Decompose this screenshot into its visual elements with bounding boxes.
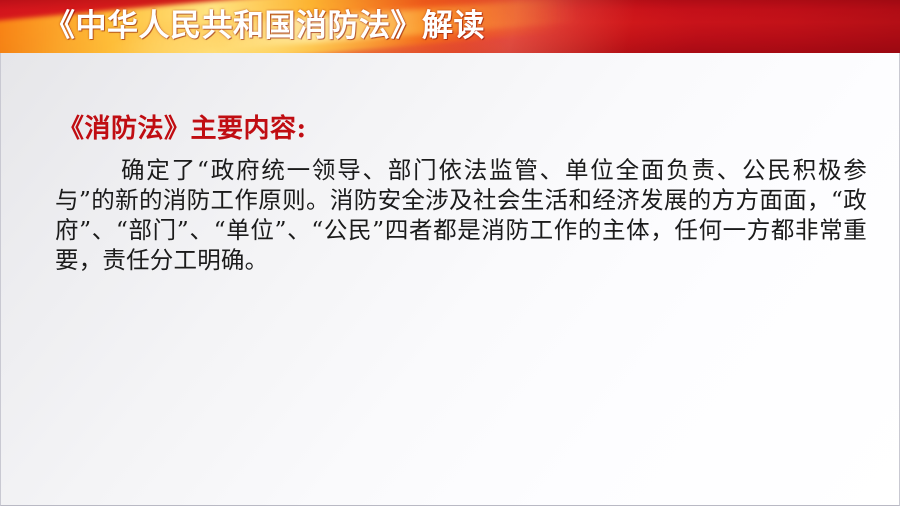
body-paragraph: 确定了“政府统一领导、部门依法监管、单位全面负责、公民积极参与”的新的消防工作原… [55, 155, 867, 275]
slide-header-banner: 《中华人民共和国消防法》解读 [0, 0, 900, 53]
slide-canvas: 《中华人民共和国消防法》解读 《消防法》主要内容: 确定了“政府统一领导、部门依… [0, 0, 900, 506]
slide-body: 《消防法》主要内容: 确定了“政府统一领导、部门依法监管、单位全面负责、公民积极… [0, 53, 900, 506]
slide-title: 《中华人民共和国消防法》解读 [44, 0, 485, 53]
section-heading: 《消防法》主要内容: [58, 108, 307, 145]
